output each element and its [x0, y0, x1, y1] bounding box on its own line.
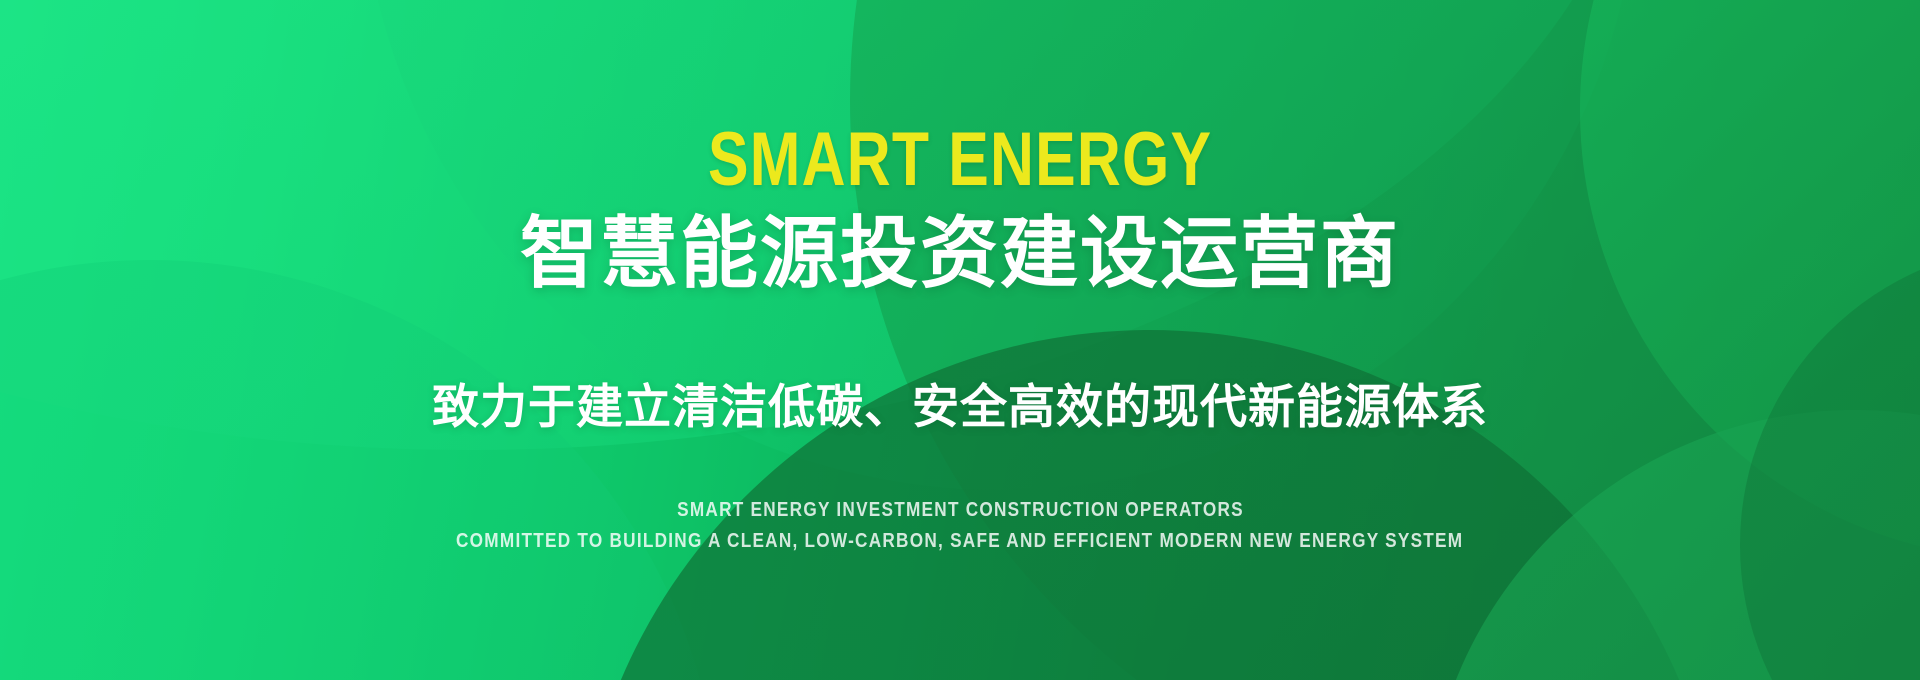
banner-english-line-1: SMART ENERGY INVESTMENT CONSTRUCTION OPE…	[677, 498, 1244, 523]
banner-text-block: SMART ENERGY 智慧能源投资建设运营商 致力于建立清洁低碳、安全高效的…	[0, 0, 1920, 680]
smart-energy-hero-banner: SMART ENERGY 智慧能源投资建设运营商 致力于建立清洁低碳、安全高效的…	[0, 0, 1920, 680]
banner-headline-chinese: 智慧能源投资建设运营商	[520, 212, 1400, 295]
banner-subheadline-chinese: 致力于建立清洁低碳、安全高效的现代新能源体系	[432, 381, 1488, 433]
banner-eyebrow-smart-energy: SMART ENERGY	[708, 122, 1212, 198]
banner-english-caption-group: SMART ENERGY INVESTMENT CONSTRUCTION OPE…	[374, 498, 1545, 554]
banner-english-line-2: COMMITTED TO BUILDING A CLEAN, LOW-CARBO…	[456, 529, 1463, 554]
